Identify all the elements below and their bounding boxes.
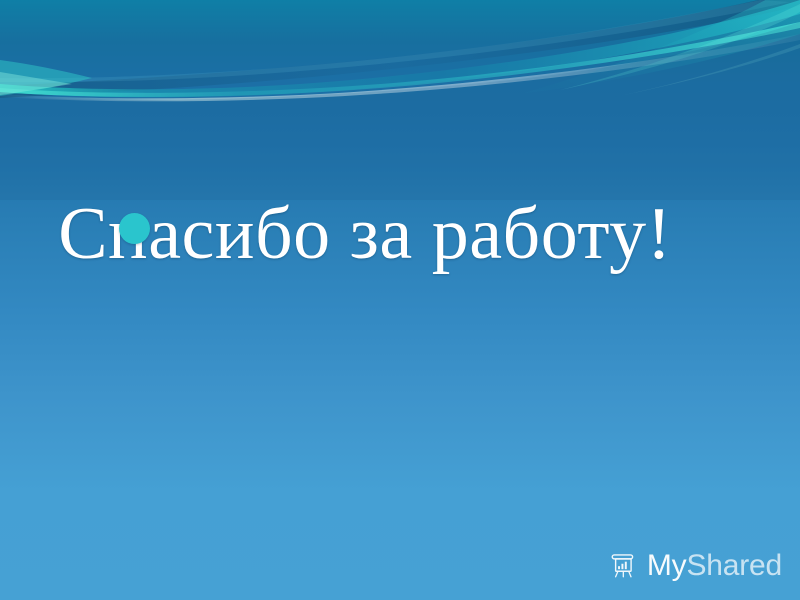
watermark-label-primary: My xyxy=(647,549,687,582)
watermark-label: MyShared xyxy=(647,551,782,581)
presentation-slide: Спасибо за работу! MyShared xyxy=(0,0,800,600)
presentation-chart-icon xyxy=(610,551,640,581)
bullet-paragraph-text: Спасибо за работу! xyxy=(58,193,672,275)
bullet-dot-icon xyxy=(119,213,150,244)
background-wave-decoration xyxy=(0,0,800,200)
watermark-label-secondary: Shared xyxy=(686,549,782,582)
body-text-placeholder[interactable]: Спасибо за работу! xyxy=(0,186,800,284)
bullet-paragraph[interactable]: Спасибо за работу! xyxy=(0,186,730,284)
myshared-watermark[interactable]: MyShared xyxy=(610,544,782,588)
